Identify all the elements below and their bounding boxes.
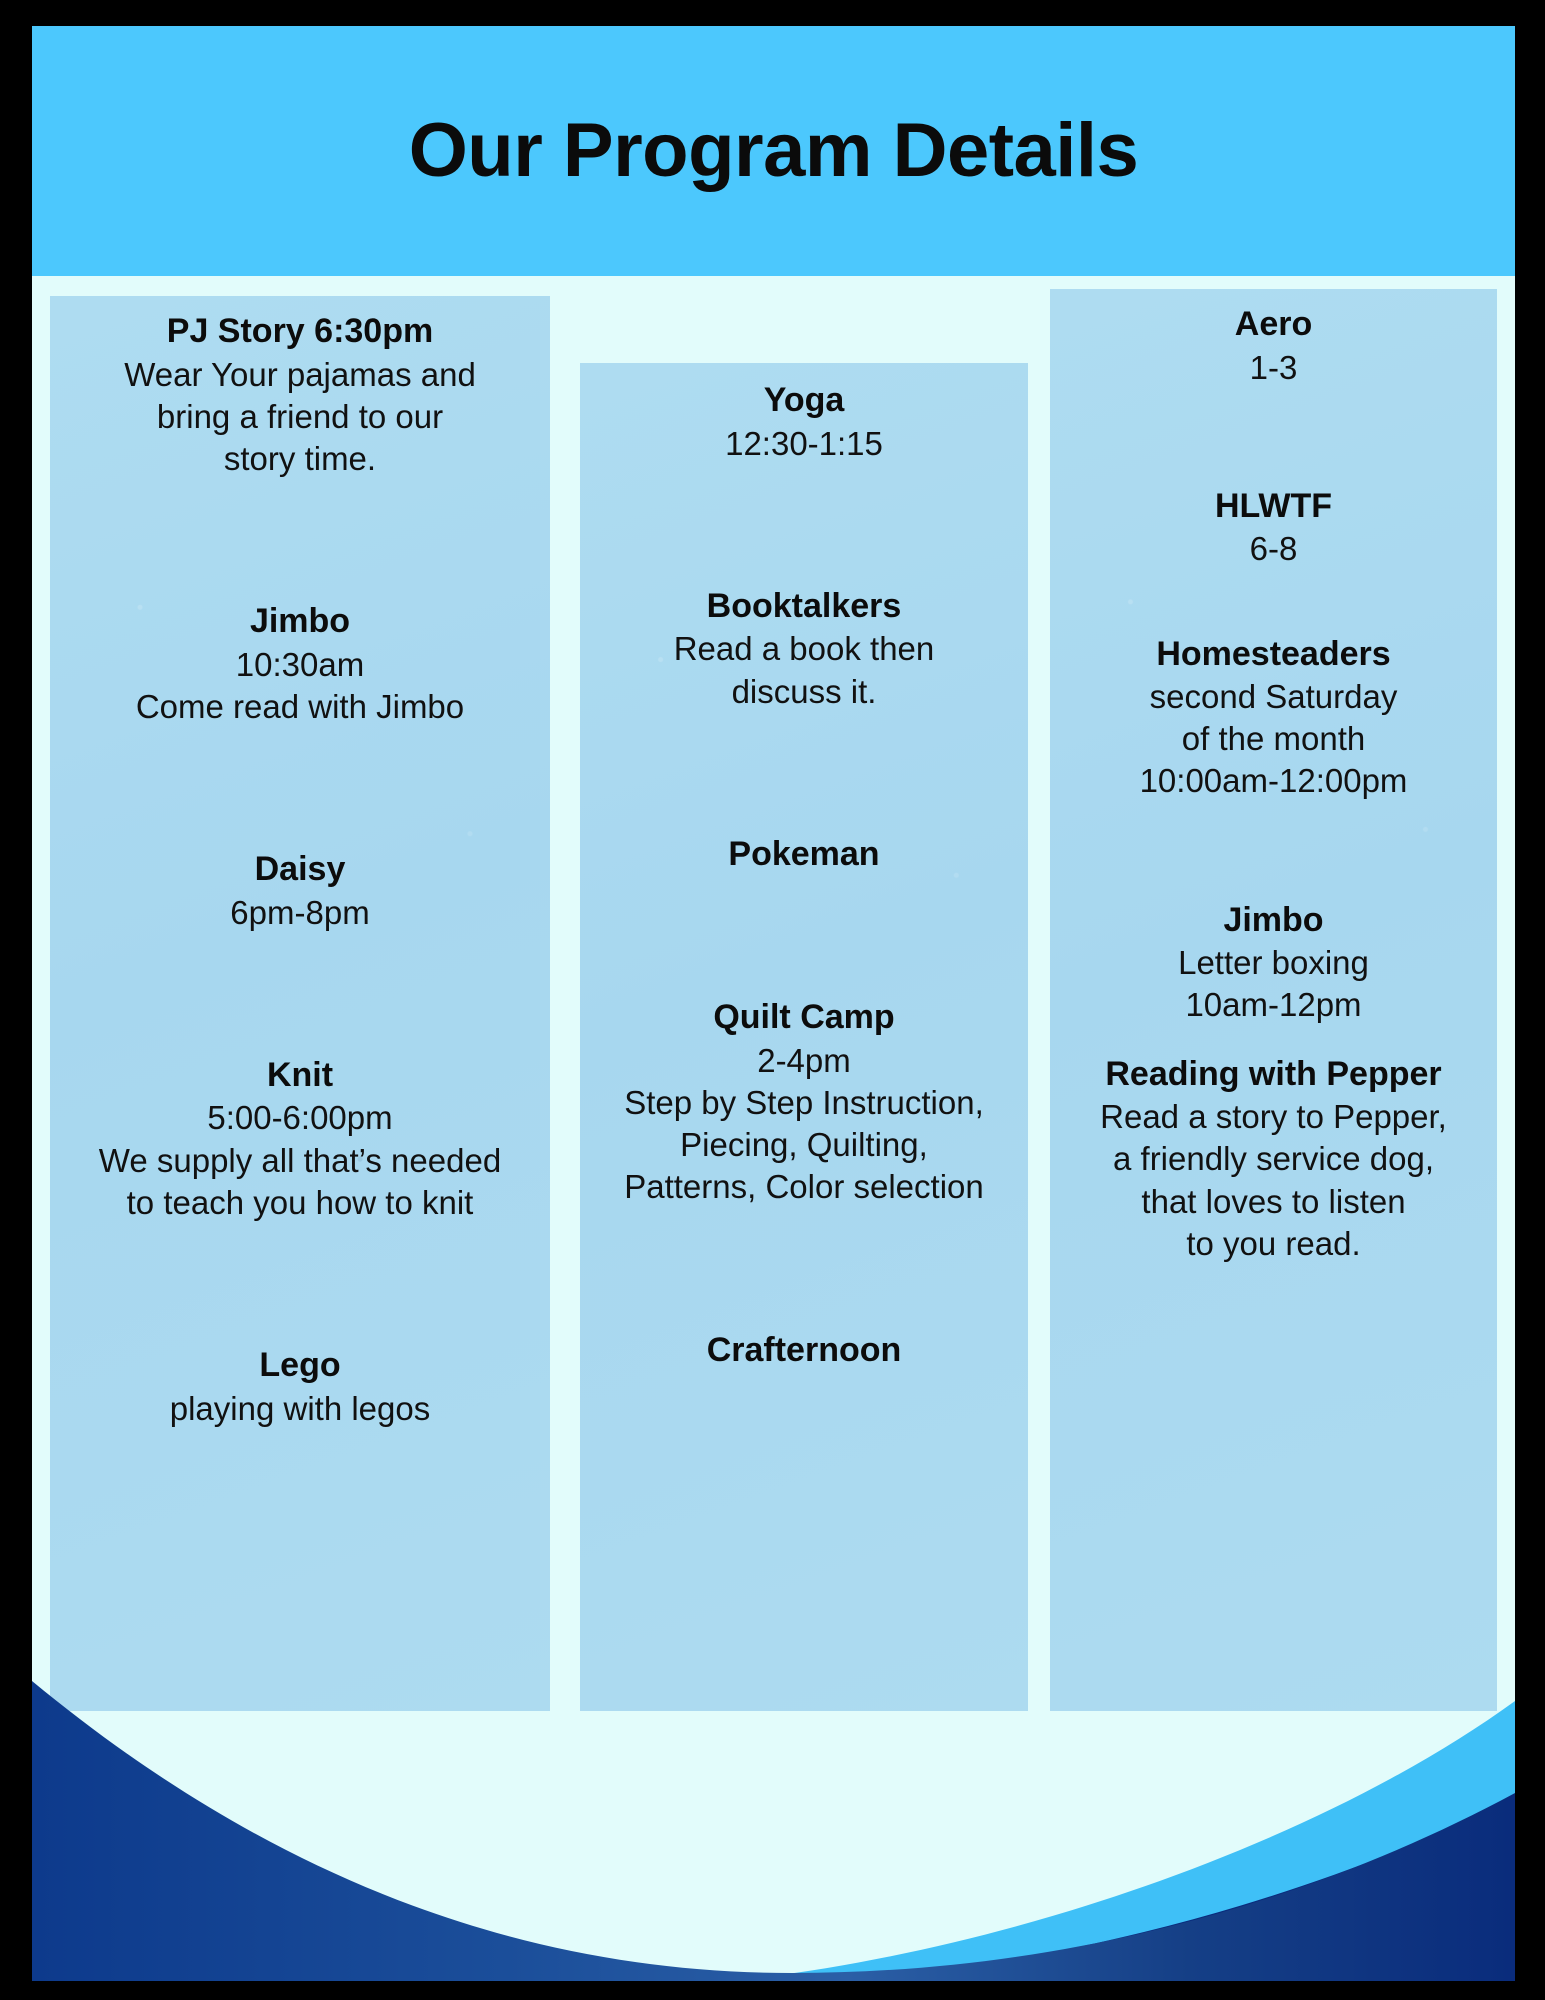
entry-line: of the month [1056,718,1491,760]
entry-line: 12:30-1:15 [584,423,1024,465]
entry-line: Step by Step Instruction, [584,1082,1024,1124]
entry-line: 1-3 [1056,347,1491,389]
program-entry: HLWTF 6-8 [1056,485,1491,571]
entry-title: Reading with Pepper [1056,1053,1491,1097]
entry-line: Piecing, Quilting, [584,1124,1024,1166]
entry-title: Jimbo [60,600,540,644]
entry-line: to you read. [1056,1223,1491,1265]
entry-line: second Saturday [1056,676,1491,718]
program-entry: Yoga 12:30-1:15 [584,379,1024,465]
entry-line: 10:30am [60,644,540,686]
entry-line: that loves to listen [1056,1181,1491,1223]
entry-line: 2-4pm [584,1040,1024,1082]
entry-title: Aero [1056,303,1491,347]
spacer [584,876,1024,996]
program-entry: Homesteaders second Saturday of the mont… [1056,633,1491,803]
entry-line: Read a story to Pepper, [1056,1096,1491,1138]
entry-title: Lego [60,1344,540,1388]
program-entry: Crafternoon [584,1329,1024,1373]
spacer [60,728,540,848]
header-band: Our Program Details [32,26,1515,276]
program-column-3: Aero 1-3 HLWTF 6-8 Homesteaders second S… [1050,289,1497,1711]
entry-line: to teach you how to knit [60,1182,540,1224]
entry-line: 10am-12pm [1056,984,1491,1026]
entry-title: Quilt Camp [584,996,1024,1040]
entry-line: discuss it. [584,671,1024,713]
entry-title: Jimbo [1056,899,1491,943]
entry-title: Yoga [584,379,1024,423]
spacer [1056,803,1491,899]
program-entry: Jimbo Letter boxing 10am-12pm [1056,899,1491,1027]
program-column-2: Yoga 12:30-1:15 Booktalkers Read a book … [580,363,1028,1711]
entry-line: 5:00-6:00pm [60,1097,540,1139]
spacer [1056,1027,1491,1053]
program-entry: Daisy 6pm-8pm [60,848,540,934]
entry-line: story time. [60,438,540,480]
program-entry: Jimbo 10:30am Come read with Jimbo [60,600,540,728]
entry-title: Pokeman [584,833,1024,877]
spacer [60,934,540,1054]
program-entry: Aero 1-3 [1056,303,1491,389]
spacer [1056,571,1491,633]
wave-svg [32,1621,1515,1981]
bottom-wave-decoration [32,1621,1515,1981]
entry-line: 10:00am-12:00pm [1056,760,1491,802]
entry-line: Come read with Jimbo [60,686,540,728]
spacer [584,713,1024,833]
program-entry: Knit 5:00-6:00pm We supply all that’s ne… [60,1054,540,1224]
entry-line: We supply all that’s needed [60,1140,540,1182]
program-entry: Reading with Pepper Read a story to Pepp… [1056,1053,1491,1265]
spacer [60,1224,540,1344]
program-column-1: PJ Story 6:30pm Wear Your pajamas and br… [50,296,550,1711]
entry-title: HLWTF [1056,485,1491,529]
spacer [1056,389,1491,485]
entry-title: Daisy [60,848,540,892]
entry-title: Homesteaders [1056,633,1491,677]
spacer [60,480,540,600]
spacer [584,465,1024,585]
program-entry: Pokeman [584,833,1024,877]
entry-line: Read a book then [584,628,1024,670]
entry-title: Knit [60,1054,540,1098]
entry-title: Crafternoon [584,1329,1024,1373]
entry-title: PJ Story 6:30pm [60,310,540,354]
entry-line: Wear Your pajamas and [60,354,540,396]
program-entry: Quilt Camp 2-4pm Step by Step Instructio… [584,996,1024,1208]
spacer [584,1209,1024,1329]
entry-line: Letter boxing [1056,942,1491,984]
entry-line: playing with legos [60,1388,540,1430]
entry-title: Booktalkers [584,585,1024,629]
program-entry: PJ Story 6:30pm Wear Your pajamas and br… [60,310,540,480]
poster-sheet: Our Program Details PJ Story 6:30pm Wear… [32,26,1515,1981]
program-entry: Booktalkers Read a book then discuss it. [584,585,1024,713]
page-title: Our Program Details [409,113,1139,189]
entry-line: a friendly service dog, [1056,1138,1491,1180]
entry-line: bring a friend to our [60,396,540,438]
program-entry: Lego playing with legos [60,1344,540,1430]
poster-root: Our Program Details PJ Story 6:30pm Wear… [0,0,1545,2000]
entry-line: Patterns, Color selection [584,1166,1024,1208]
entry-line: 6-8 [1056,528,1491,570]
program-columns: PJ Story 6:30pm Wear Your pajamas and br… [32,276,1515,1716]
entry-line: 6pm-8pm [60,892,540,934]
